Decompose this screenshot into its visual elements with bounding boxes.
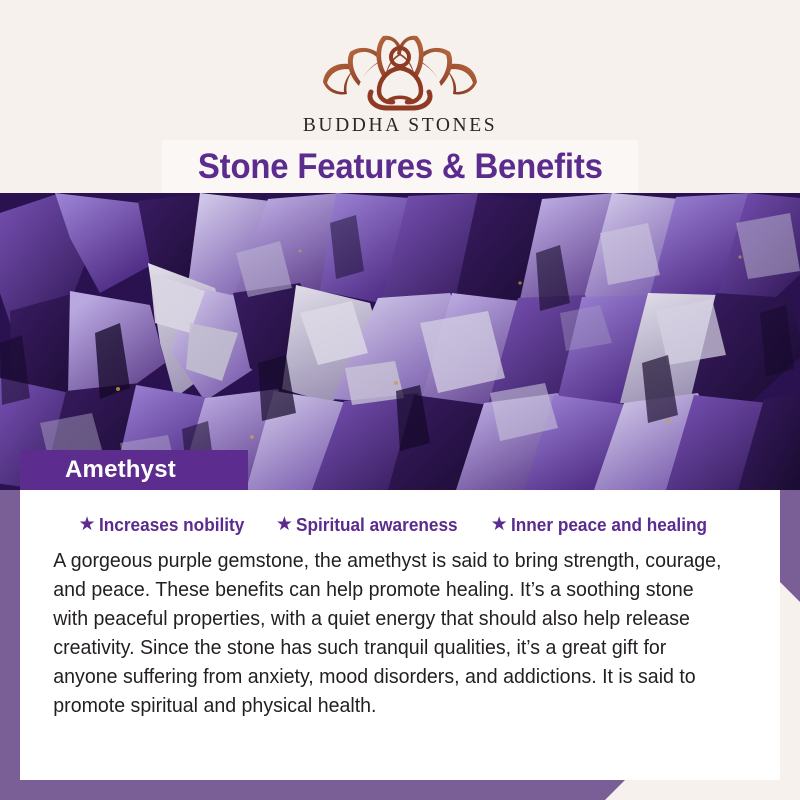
hero-image: Amethyst [0,193,800,490]
star-icon: ★ [276,515,293,534]
benefit-label: Increases nobility [99,514,244,536]
stone-name-badge: Amethyst [20,450,248,490]
benefit-item: ★ Inner peace and healing [491,514,722,536]
benefit-label: Spiritual awareness [296,514,458,536]
stone-name-label: Amethyst [65,456,176,484]
star-icon: ★ [79,515,96,534]
benefit-label: Inner peace and healing [511,514,707,536]
page-title: Stone Features & Benefits [198,147,603,187]
description-section: ★ Increases nobility ★ Spiritual awarene… [20,490,780,780]
brand-name: BUDDHA STONES [303,115,497,137]
benefit-item: ★ Increases nobility [79,514,255,536]
benefit-item: ★ Spiritual awareness [276,514,470,536]
decorative-band-left [0,490,20,800]
title-band: Stone Features & Benefits [162,140,638,193]
brand-logo: BUDDHA STONES [0,22,800,137]
decorative-band-bottom [0,780,625,800]
lotus-meditating-figure-icon [305,22,495,114]
star-icon: ★ [491,515,508,534]
amethyst-crystal-illustration [0,193,800,490]
benefits-list: ★ Increases nobility ★ Spiritual awarene… [38,514,762,536]
infographic-card: BUDDHA STONES Stone Features & Benefits [0,0,800,800]
description-text: A gorgeous purple gemstone, the amethyst… [38,546,729,720]
